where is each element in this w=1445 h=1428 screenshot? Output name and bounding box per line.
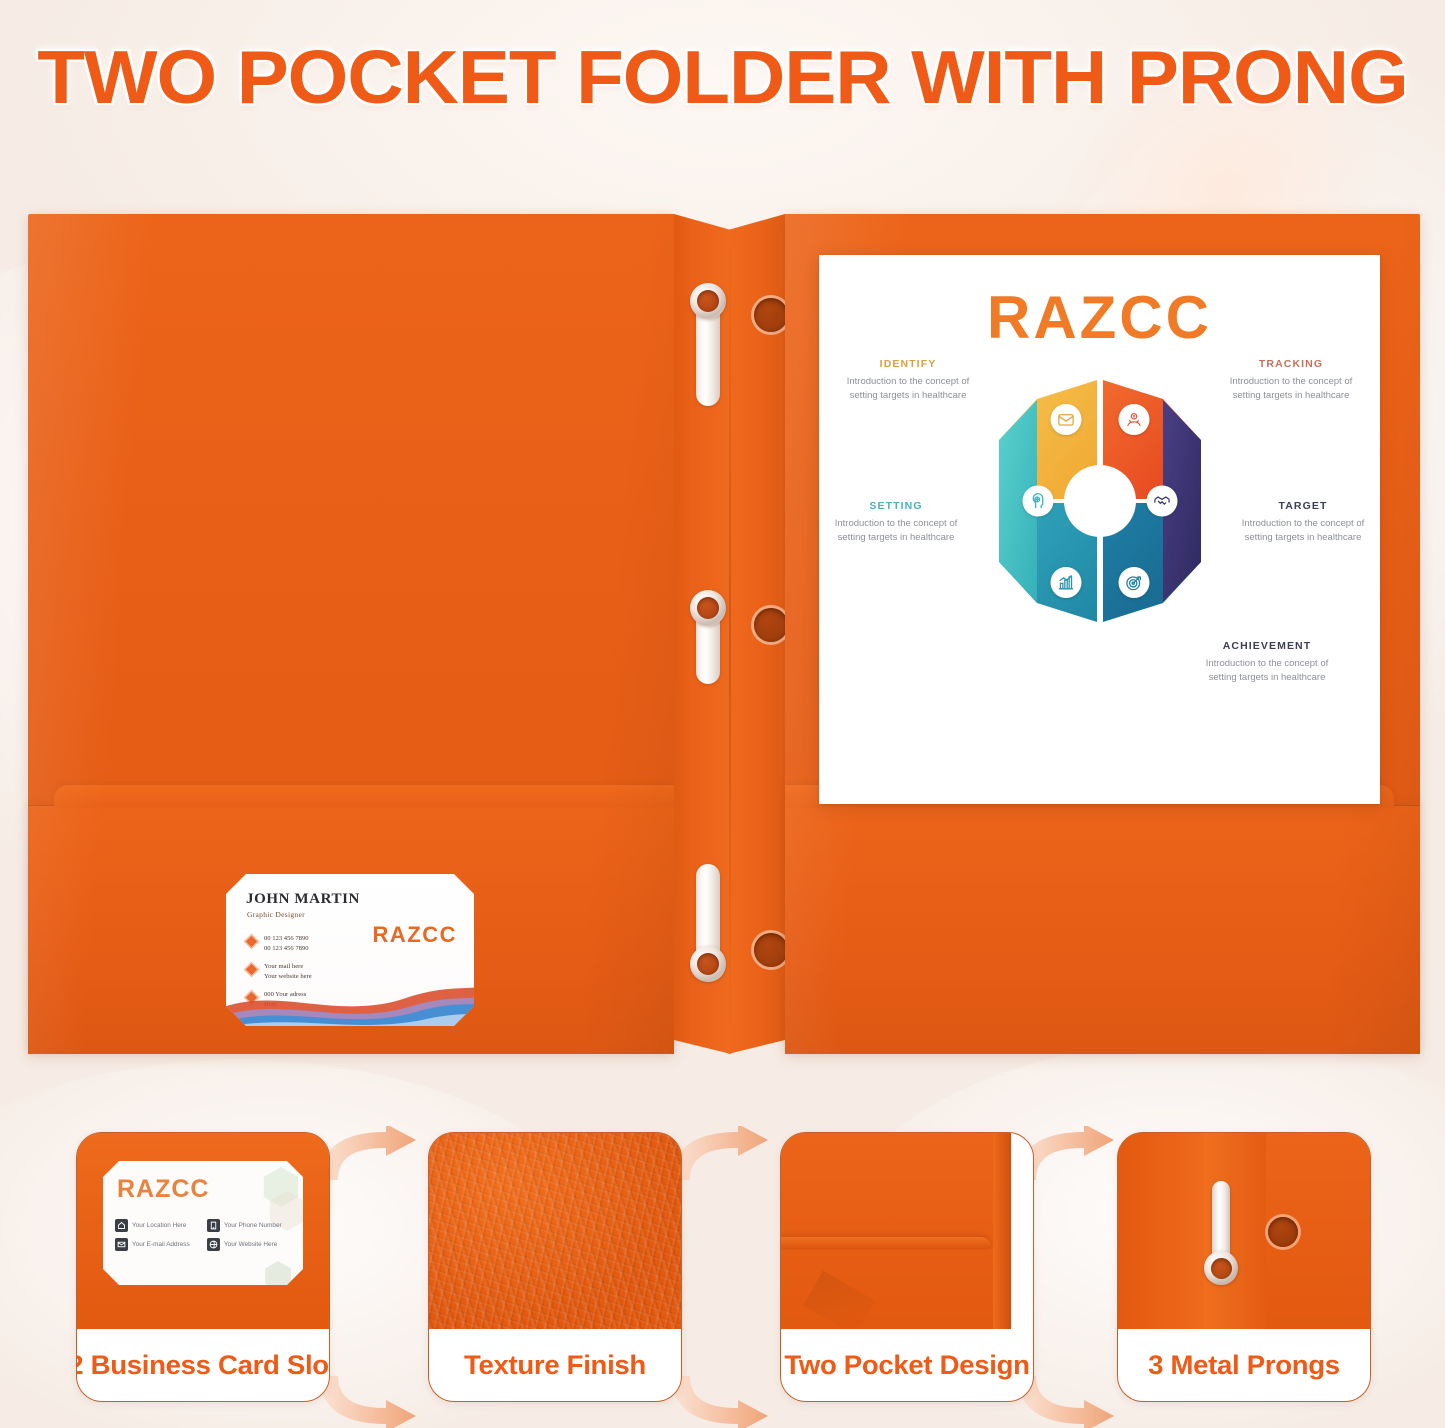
- feature-caption: 3 Metal Prongs: [1117, 1329, 1371, 1401]
- info-title: TARGET: [1230, 500, 1376, 512]
- contact-item-email: Your E-mail Address: [115, 1238, 203, 1251]
- home-icon: [115, 1219, 128, 1232]
- business-card-role: Graphic Designer: [247, 910, 305, 919]
- target-dartboard-icon: [1118, 567, 1149, 598]
- pocket-fold-line: [781, 1237, 991, 1249]
- info-body: Introduction to the concept of setting t…: [823, 517, 969, 545]
- feature-card-texture-finish[interactable]: Texture Finish: [428, 1132, 682, 1402]
- feature-caption: Two Pocket Design: [780, 1329, 1034, 1401]
- folder-product-photo: JOHN MARTIN Graphic Designer RAZCC 00 12…: [28, 214, 1420, 1054]
- mail-envelope-icon: [1050, 404, 1081, 435]
- feature-cards-row: RAZCC Your Location Here Yo: [0, 1132, 1445, 1422]
- contact-label: Your Phone Number: [224, 1222, 282, 1229]
- arrow-connector-icon: [312, 1126, 432, 1188]
- spine-panel-left: [1118, 1133, 1204, 1329]
- phone-icon: [244, 934, 260, 950]
- punch-hole-1: [754, 298, 788, 332]
- spine-crease: [729, 222, 731, 1048]
- info-body: Introduction to the concept of setting t…: [1230, 517, 1376, 545]
- metal-prong-2: [696, 596, 720, 684]
- metal-prong-1: [696, 288, 720, 406]
- info-label-achievement: ACHIEVEMENT Introduction to the concept …: [1194, 640, 1340, 685]
- phone-line-1: 00 123 456 7890: [264, 935, 309, 942]
- preview-card-logo: RAZCC: [117, 1175, 210, 1204]
- info-body: Introduction to the concept of setting t…: [1218, 375, 1364, 403]
- arrow-connector-icon: [664, 1368, 784, 1428]
- business-card-logo: RAZCC: [373, 922, 458, 948]
- wave-decoration: [226, 976, 474, 1026]
- arrow-connector-icon: [312, 1368, 432, 1428]
- head-gear-icon: [1022, 486, 1053, 517]
- feature-image: [1118, 1133, 1370, 1329]
- info-title: SETTING: [823, 500, 969, 512]
- handshake-icon: [1146, 486, 1177, 517]
- globe-icon: [207, 1238, 220, 1251]
- growth-chart-icon: [1050, 567, 1081, 598]
- business-card-in-slot: RAZCC Your Location Here Yo: [103, 1161, 303, 1285]
- phone-line-2: 00 123 456 7890: [264, 945, 309, 952]
- hexagon-infographic: IDENTIFY Introduction to the concept of …: [819, 358, 1380, 758]
- texture-surface: [429, 1133, 681, 1329]
- feature-caption: 2 Business Card Slot: [76, 1329, 330, 1401]
- contact-label: Your Location Here: [132, 1222, 186, 1229]
- arrow-connector-icon: [664, 1126, 784, 1188]
- contact-label: Your Website Here: [224, 1241, 277, 1248]
- prong-eyelet-icon: [690, 590, 726, 626]
- page-title: TWO POCKET FOLDER WITH PRONG: [0, 34, 1445, 120]
- white-gap: [1011, 1133, 1033, 1329]
- folder-left-panel: JOHN MARTIN Graphic Designer RAZCC 00 12…: [28, 214, 674, 1054]
- business-card-name: JOHN MARTIN: [246, 891, 360, 908]
- prong-eyelet-icon: [1204, 1251, 1238, 1285]
- contact-item-location: Your Location Here: [115, 1219, 203, 1232]
- feature-image: [429, 1133, 681, 1329]
- feature-image: RAZCC Your Location Here Yo: [77, 1133, 329, 1329]
- business-card-phone: 00 123 456 7890 00 123 456 7890: [264, 934, 309, 954]
- feature-caption: Texture Finish: [428, 1329, 682, 1401]
- contact-item-phone: Your Phone Number: [207, 1219, 295, 1232]
- business-card-phone-row: 00 123 456 7890 00 123 456 7890: [246, 934, 309, 954]
- info-label-identify: IDENTIFY Introduction to the concept of …: [835, 358, 981, 403]
- contact-item-website: Your Website Here: [207, 1238, 295, 1251]
- feature-card-business-card-slot[interactable]: RAZCC Your Location Here Yo: [76, 1132, 330, 1402]
- sheet-logo: RAZCC: [819, 283, 1380, 352]
- inserted-document-sheet: RAZCC IDENTIFY Introduction to the conce…: [819, 255, 1380, 804]
- preview-contact-grid: Your Location Here Your Phone Number: [115, 1219, 295, 1251]
- info-label-target: TARGET Introduction to the concept of se…: [1230, 500, 1376, 545]
- business-card: JOHN MARTIN Graphic Designer RAZCC 00 12…: [226, 874, 474, 1026]
- right-pocket: [785, 805, 1420, 1054]
- info-body: Introduction to the concept of setting t…: [835, 375, 981, 403]
- email-line: Your mail here: [264, 963, 303, 970]
- punch-hole-2: [754, 608, 788, 642]
- feature-card-metal-prongs[interactable]: 3 Metal Prongs: [1117, 1132, 1371, 1402]
- hexagon-wheel: [989, 376, 1211, 626]
- metal-prong-3: [696, 864, 720, 976]
- phone-icon: [207, 1219, 220, 1232]
- mail-icon: [115, 1238, 128, 1251]
- prong-eyelet-icon: [690, 283, 726, 319]
- info-title: IDENTIFY: [835, 358, 981, 370]
- punch-hole-3: [754, 933, 788, 967]
- punch-hole-icon: [1268, 1217, 1298, 1247]
- pocket-side-edge: [993, 1133, 1011, 1329]
- contact-label: Your E-mail Address: [132, 1241, 190, 1248]
- folder-spine: [674, 214, 785, 1054]
- mail-icon: [244, 962, 260, 978]
- prong-eyelet-icon: [690, 946, 726, 982]
- product-marketing-image: TWO POCKET FOLDER WITH PRONG JOHN MARTIN…: [0, 0, 1445, 1428]
- feature-card-two-pocket-design[interactable]: Two Pocket Design: [780, 1132, 1034, 1402]
- info-title: TRACKING: [1218, 358, 1364, 370]
- info-title: ACHIEVEMENT: [1194, 640, 1340, 652]
- info-body: Introduction to the concept of setting t…: [1194, 657, 1340, 685]
- info-label-tracking: TRACKING Introduction to the concept of …: [1218, 358, 1364, 403]
- hands-money-icon: [1118, 404, 1149, 435]
- infographic-center-hub: [1068, 469, 1132, 533]
- info-label-setting: SETTING Introduction to the concept of s…: [823, 500, 969, 545]
- feature-image: [781, 1133, 1033, 1329]
